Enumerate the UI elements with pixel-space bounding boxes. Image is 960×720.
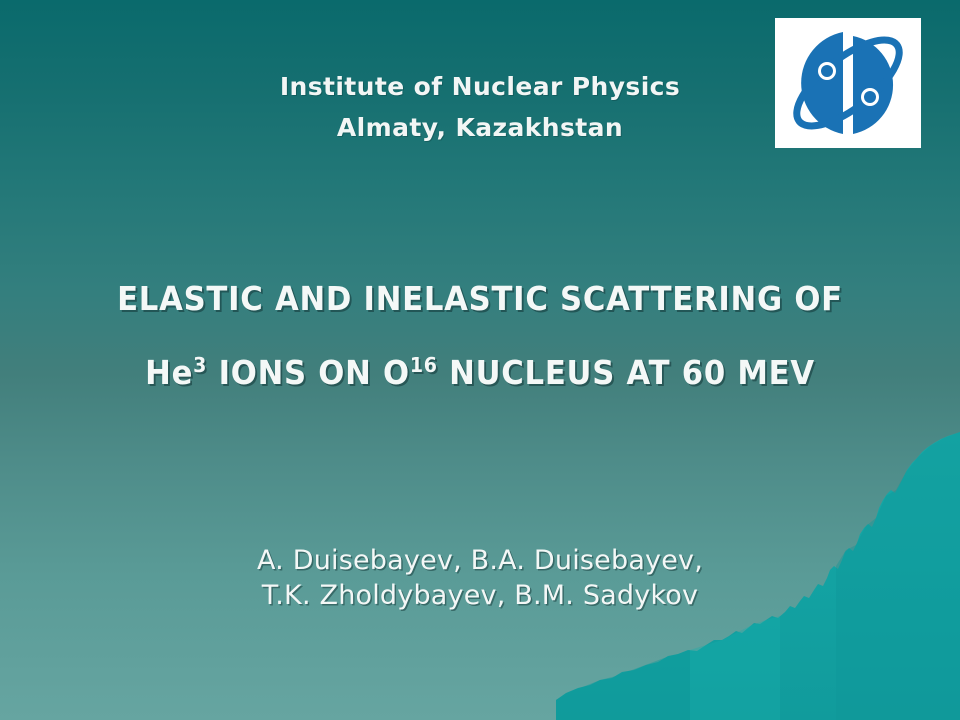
presentation-slide: Institute of Nuclear Physics Almaty, Kaz… [0,0,960,720]
title-he-mass-number: 3 [193,353,207,377]
title-middle-text: IONS ON O [207,353,410,392]
atom-orbital-icon [775,18,921,148]
title-suffix-text: NUCLEUS AT 60 MEV [438,353,815,392]
title-line-2: He3 IONS ON O16 NUCLEUS AT 60 MEV [34,336,927,410]
author-line-2: T.K. Zholdybayev, B.M. Sadykov [0,578,960,613]
institute-logo [775,18,921,148]
author-line-1: A. Duisebayev, B.A. Duisebayev, [0,543,960,578]
title-o-mass-number: 16 [410,353,438,377]
title-he-prefix: He [145,353,193,392]
slide-title: ELASTIC AND INELASTIC SCATTERING OF He3 … [0,262,960,410]
author-list: A. Duisebayev, B.A. Duisebayev, T.K. Zho… [0,543,960,613]
title-line-1: ELASTIC AND INELASTIC SCATTERING OF [34,262,927,336]
